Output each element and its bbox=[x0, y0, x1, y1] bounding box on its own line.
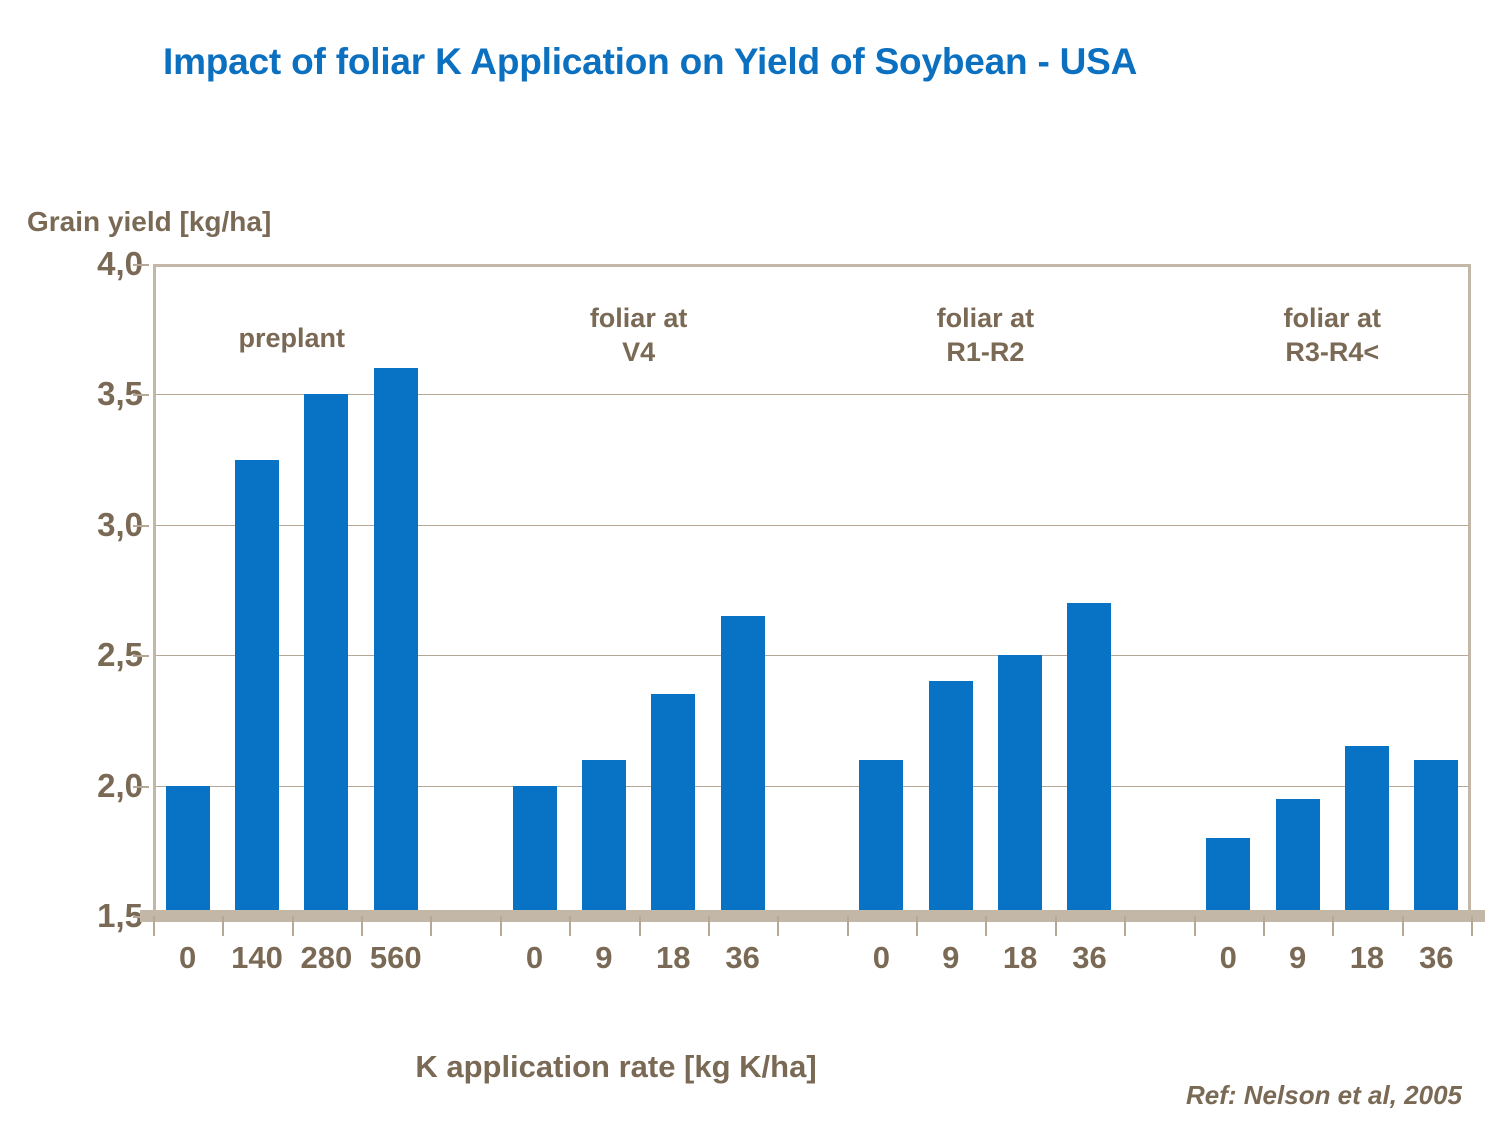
group-annotation: foliar at R3-R4< bbox=[1172, 302, 1492, 370]
y-tick-label: 2,5 bbox=[53, 636, 143, 674]
y-tick-label: 3,5 bbox=[53, 375, 143, 413]
group-annotation: foliar at V4 bbox=[479, 302, 799, 370]
bar bbox=[513, 786, 557, 916]
bar bbox=[582, 760, 626, 916]
bar bbox=[859, 760, 903, 916]
y-tick-mark bbox=[133, 264, 149, 266]
y-tick-label: 1,5 bbox=[53, 897, 143, 935]
chart-title: Impact of foliar K Application on Yield … bbox=[163, 38, 1413, 87]
x-category-label: 560 bbox=[336, 940, 456, 976]
x-tick-mark bbox=[847, 916, 849, 936]
x-axis-title: K application rate [kg K/ha] bbox=[0, 1049, 1232, 1085]
bar bbox=[721, 616, 765, 916]
x-category-label: 36 bbox=[1376, 940, 1496, 976]
bar bbox=[1067, 603, 1111, 916]
y-tick-mark bbox=[133, 655, 149, 657]
group-annotation: foliar at R1-R2 bbox=[825, 302, 1145, 370]
y-tick-mark bbox=[133, 394, 149, 396]
bar bbox=[651, 694, 695, 916]
bar bbox=[1206, 838, 1250, 916]
x-tick-mark bbox=[1402, 916, 1404, 936]
reference-note: Ref: Nelson et al, 2005 bbox=[1186, 1080, 1462, 1111]
x-tick-mark bbox=[153, 916, 155, 936]
bar bbox=[304, 394, 348, 916]
x-tick-mark bbox=[1194, 916, 1196, 936]
bar bbox=[929, 681, 973, 916]
x-tick-mark bbox=[569, 916, 571, 936]
bar bbox=[1414, 760, 1458, 916]
bar bbox=[166, 786, 210, 916]
x-category-label: 36 bbox=[683, 940, 803, 976]
y-tick-label: 3,0 bbox=[53, 506, 143, 544]
x-tick-mark bbox=[1055, 916, 1057, 936]
bar bbox=[1345, 746, 1389, 916]
x-tick-mark bbox=[1124, 916, 1126, 936]
x-category-label: 36 bbox=[1029, 940, 1149, 976]
x-tick-mark bbox=[1263, 916, 1265, 936]
bar bbox=[998, 655, 1042, 916]
y-tick-label: 2,0 bbox=[53, 767, 143, 805]
x-tick-mark bbox=[222, 916, 224, 936]
x-tick-mark bbox=[777, 916, 779, 936]
x-tick-mark bbox=[1332, 916, 1334, 936]
x-tick-mark bbox=[1471, 916, 1473, 936]
x-tick-mark bbox=[500, 916, 502, 936]
group-annotation: preplant bbox=[132, 322, 452, 356]
x-tick-mark bbox=[639, 916, 641, 936]
y-tick-mark bbox=[133, 525, 149, 527]
bar bbox=[1276, 799, 1320, 916]
y-tick-mark bbox=[133, 786, 149, 788]
x-tick-mark bbox=[292, 916, 294, 936]
x-tick-mark bbox=[708, 916, 710, 936]
y-tick-label: 4,0 bbox=[53, 245, 143, 283]
x-tick-mark bbox=[985, 916, 987, 936]
bar bbox=[235, 460, 279, 916]
x-tick-mark bbox=[916, 916, 918, 936]
x-axis-ticks bbox=[153, 916, 1471, 936]
x-tick-mark bbox=[361, 916, 363, 936]
bar bbox=[374, 368, 418, 916]
x-tick-mark bbox=[430, 916, 432, 936]
